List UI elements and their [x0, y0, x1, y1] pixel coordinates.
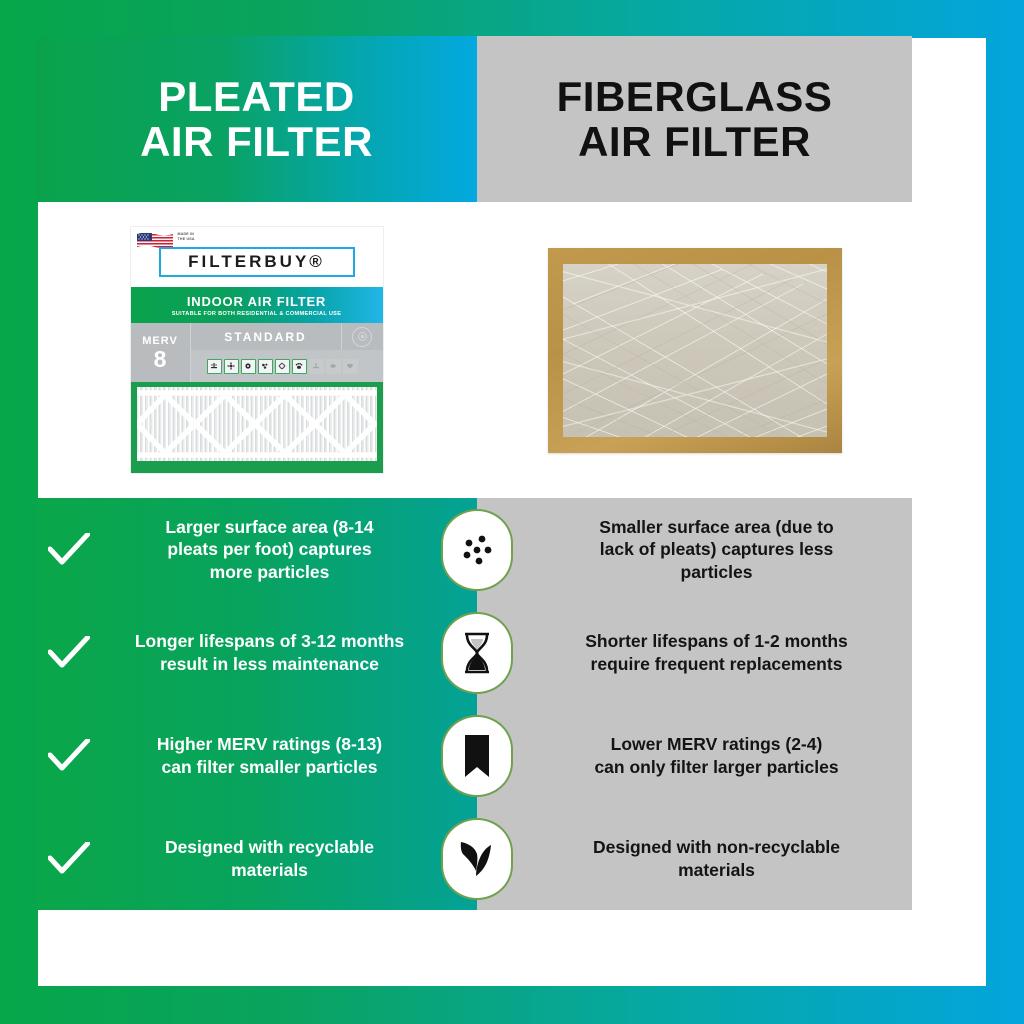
- row-left: Designed with recyclable materials: [36, 807, 477, 910]
- filterbuy-logo: FILTERBUY®: [159, 247, 355, 277]
- feature-icon-dust: [207, 359, 222, 374]
- made-in-usa-label: MADE IN THE USA: [178, 232, 195, 242]
- package-band: INDOOR AIR FILTER SUITABLE FOR BOTH RESI…: [131, 287, 383, 323]
- filterbuy-logo-text: FILTERBUY: [188, 252, 309, 272]
- row-medal: [441, 612, 513, 694]
- product-cell-fiberglass: [477, 202, 912, 498]
- check-icon: [36, 533, 102, 567]
- feature-icon-pet-dander: [292, 359, 307, 374]
- grade-label: STANDARD: [191, 330, 341, 344]
- feature-icon-smoke-inactive: [309, 359, 324, 374]
- particles-icon: [441, 509, 513, 591]
- row-medal: [441, 818, 513, 900]
- row-right: Lower MERV ratings (2-4) can only filter…: [477, 704, 912, 807]
- package-spec-strip: MERV 8 STANDARD: [131, 323, 383, 382]
- merv-value: 8: [154, 348, 167, 371]
- feature-icon-odor-inactive: [326, 359, 341, 374]
- grade-row: STANDARD: [191, 323, 383, 350]
- header-row: PLEATED AIR FILTER FIBERGLASS AIR FILTER: [36, 36, 912, 202]
- row-left-text: Larger surface area (8-14 pleats per foo…: [102, 516, 437, 583]
- support-lattice-icon: [137, 387, 377, 461]
- header-pleated: PLEATED AIR FILTER: [36, 36, 477, 202]
- row-medal: [441, 509, 513, 591]
- row-right-text: Shorter lifespans of 1-2 months require …: [543, 630, 890, 675]
- row-right: Designed with non-recyclable materials: [477, 807, 912, 910]
- row-left: Higher MERV ratings (8-13) can filter sm…: [36, 704, 477, 807]
- seal-glyph: [357, 331, 368, 342]
- seal-circle: [352, 327, 372, 347]
- certification-seal-icon: [341, 323, 383, 350]
- fiberglass-media: [563, 264, 827, 437]
- pleated-media-area: FILTERBUY: [131, 382, 383, 473]
- feature-icon-strip: [191, 350, 383, 382]
- row-right-text: Designed with non-recyclable materials: [543, 836, 890, 881]
- band-subtitle: SUITABLE FOR BOTH RESIDENTIAL & COMMERCI…: [172, 311, 342, 317]
- row-left: Larger surface area (8-14 pleats per foo…: [36, 498, 477, 601]
- band-title: INDOOR AIR FILTER: [187, 294, 326, 309]
- check-icon: [36, 842, 102, 876]
- row-left-text: Higher MERV ratings (8-13) can filter sm…: [102, 733, 437, 778]
- row-left: Longer lifespans of 3-12 months result i…: [36, 601, 477, 704]
- comparison-row: Larger surface area (8-14 pleats per foo…: [36, 498, 912, 601]
- trademark-symbol: ®: [309, 252, 325, 272]
- fiber-texture-icon: [563, 264, 827, 437]
- feature-icon-gear: [241, 359, 256, 374]
- feature-icon-bacteria: [275, 359, 290, 374]
- merv-badge: MERV 8: [131, 323, 191, 382]
- comparison-row: Longer lifespans of 3-12 months result i…: [36, 601, 912, 704]
- bookmark-icon: [441, 715, 513, 797]
- row-right-text: Smaller surface area (due to lack of ple…: [543, 516, 890, 583]
- product-cell-pleated: MADE IN THE USA FILTERBUY® INDOOR AIR FI…: [36, 202, 477, 498]
- header-fiberglass-title: FIBERGLASS AIR FILTER: [557, 74, 833, 165]
- comparison-row: Designed with recyclable materials Desig…: [36, 807, 912, 910]
- comparison-row: Higher MERV ratings (8-13) can filter sm…: [36, 704, 912, 807]
- hourglass-icon: [441, 612, 513, 694]
- leaf-icon: [441, 818, 513, 900]
- feature-icon-pollen: [224, 359, 239, 374]
- fiberglass-filter-photo: [548, 248, 842, 453]
- product-image-row: MADE IN THE USA FILTERBUY® INDOOR AIR FI…: [36, 202, 912, 498]
- row-right: Smaller surface area (due to lack of ple…: [477, 498, 912, 601]
- row-right-text: Lower MERV ratings (2-4) can only filter…: [543, 733, 890, 778]
- feature-icon-mold: [258, 359, 273, 374]
- pleat-media: FILTERBUY: [137, 387, 377, 461]
- package-top: MADE IN THE USA FILTERBUY®: [131, 227, 383, 287]
- row-left-text: Designed with recyclable materials: [102, 836, 437, 881]
- check-icon: [36, 739, 102, 773]
- row-medal: [441, 715, 513, 797]
- comparison-rows: Larger surface area (8-14 pleats per foo…: [36, 498, 912, 910]
- feature-icon-virus-inactive: [343, 359, 358, 374]
- merv-label: MERV: [142, 335, 178, 347]
- pleated-filter-package: MADE IN THE USA FILTERBUY® INDOOR AIR FI…: [131, 227, 383, 473]
- spec-middle: STANDARD: [191, 323, 383, 382]
- media-brand-label: FILTERBUY: [137, 453, 377, 460]
- header-pleated-title: PLEATED AIR FILTER: [140, 74, 373, 165]
- row-right: Shorter lifespans of 1-2 months require …: [477, 601, 912, 704]
- row-left-text: Longer lifespans of 3-12 months result i…: [102, 630, 437, 675]
- header-fiberglass: FIBERGLASS AIR FILTER: [477, 36, 912, 202]
- check-icon: [36, 636, 102, 670]
